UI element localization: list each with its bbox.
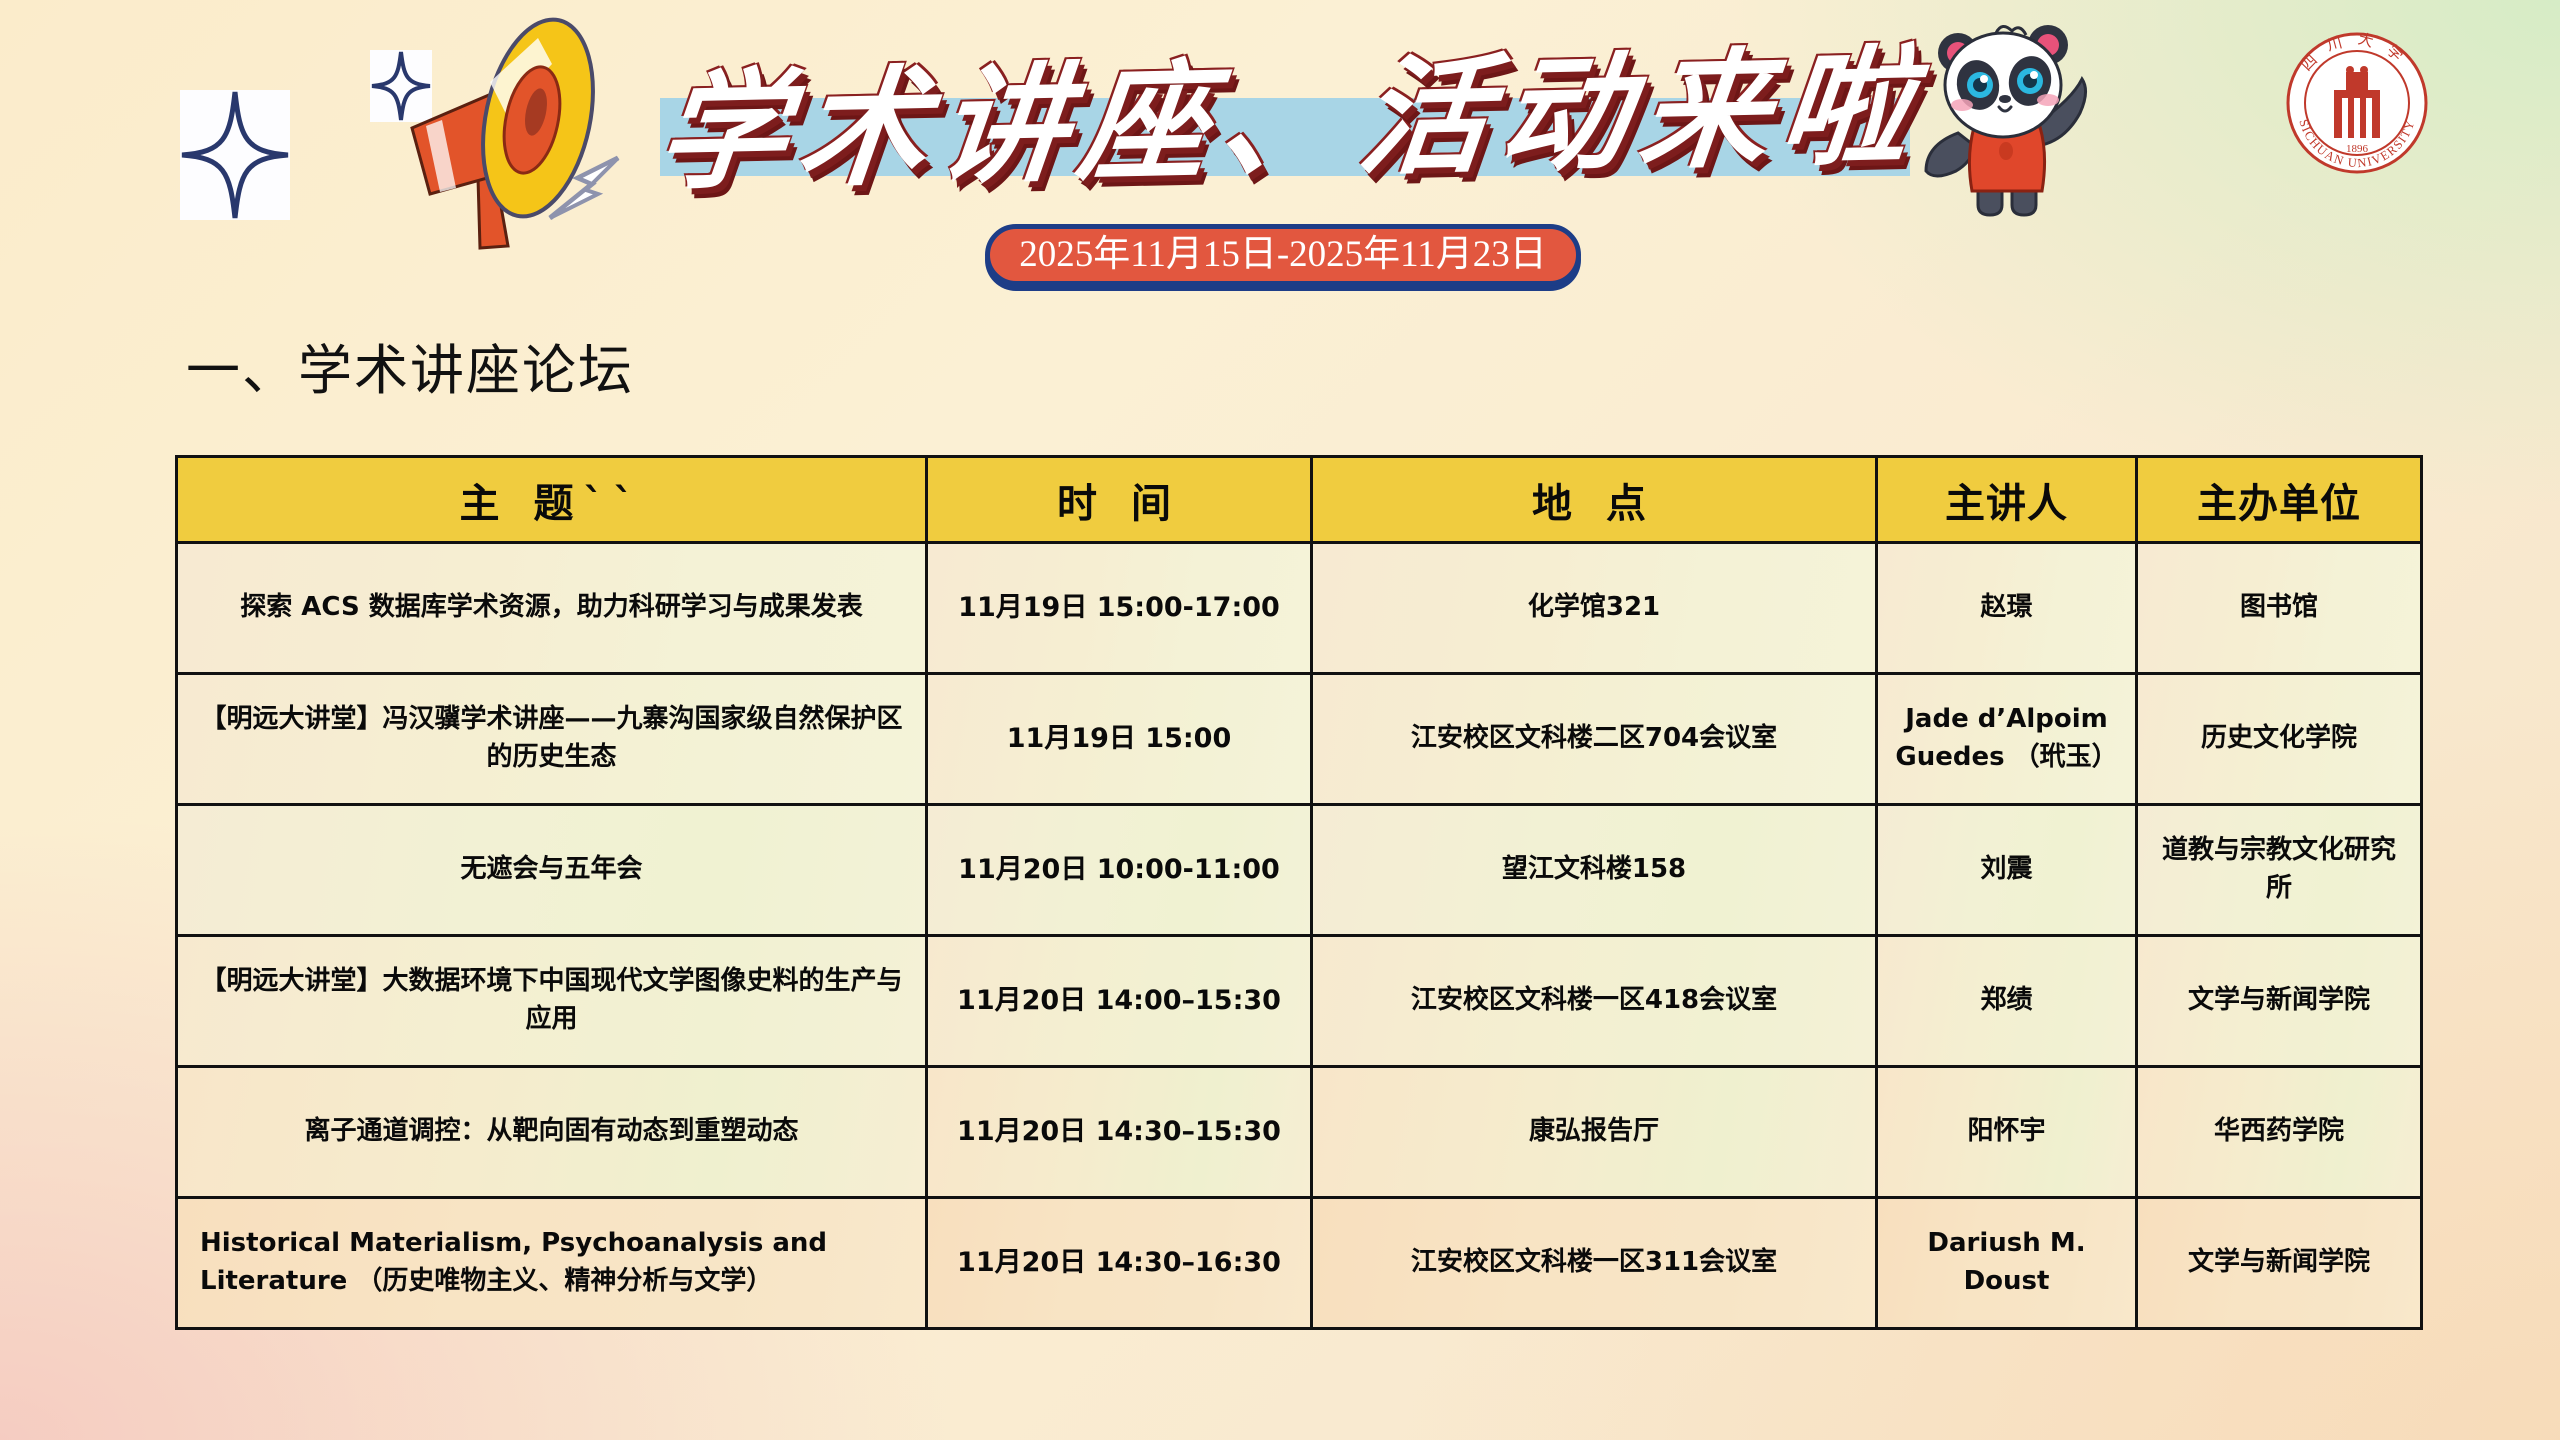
table-header-row: 主 题`` 时 间 地 点 主讲人 主办单位 — [177, 457, 2422, 543]
sparkle-star-large-icon — [180, 90, 290, 220]
date-range-badge: 2025年11月15日-2025年11月23日 — [985, 224, 1581, 286]
cell-place: 康弘报告厅 — [1312, 1067, 1877, 1198]
table-row: 【明远大讲堂】大数据环境下中国现代文学图像史料的生产与应用 11月20日 14:… — [177, 936, 2422, 1067]
cell-topic: 无遮会与五年会 — [177, 805, 927, 936]
cell-topic: 探索 ACS 数据库学术资源，助力科研学习与成果发表 — [177, 543, 927, 674]
cell-speaker: 郑绩 — [1877, 936, 2137, 1067]
cell-host: 道教与宗教文化研究所 — [2137, 805, 2422, 936]
column-header-topic: 主 题`` — [177, 457, 927, 543]
cell-place: 江安校区文科楼一区418会议室 — [1312, 936, 1877, 1067]
column-header-place: 地 点 — [1312, 457, 1877, 543]
page-title: 学术讲座、活动来啦 — [648, 7, 1931, 233]
lecture-schedule-table: 主 题`` 时 间 地 点 主讲人 主办单位 探索 ACS 数据库学术资源，助力… — [175, 455, 2423, 1330]
cell-speaker: Jade d’Alpoim Guedes （玳玉） — [1877, 674, 2137, 805]
cell-time: 11月20日 14:30–15:30 — [927, 1067, 1312, 1198]
table-row: 离子通道调控：从靶向固有动态到重塑动态 11月20日 14:30–15:30 康… — [177, 1067, 2422, 1198]
panda-mascot-icon — [1900, 5, 2100, 225]
table-row: 无遮会与五年会 11月20日 10:00-11:00 望江文科楼158 刘震 道… — [177, 805, 2422, 936]
cell-time: 11月20日 14:00–15:30 — [927, 936, 1312, 1067]
cell-speaker: 阳怀宇 — [1877, 1067, 2137, 1198]
cell-host: 华西药学院 — [2137, 1067, 2422, 1198]
cell-speaker: 刘震 — [1877, 805, 2137, 936]
column-header-time: 时 间 — [927, 457, 1312, 543]
sichuan-university-logo: 1896 SICHUAN UNIVERSITY 四川大学 — [2282, 28, 2432, 183]
cell-time: 11月19日 15:00-17:00 — [927, 543, 1312, 674]
cell-topic: 【明远大讲堂】大数据环境下中国现代文学图像史料的生产与应用 — [177, 936, 927, 1067]
megaphone-icon — [300, 8, 640, 263]
table-row: Historical Materialism, Psychoanalysis a… — [177, 1198, 2422, 1329]
cell-host: 图书馆 — [2137, 543, 2422, 674]
section-heading: 一、学术讲座论坛 — [186, 326, 634, 405]
cell-speaker: Dariush M. Doust — [1877, 1198, 2137, 1329]
cell-host: 历史文化学院 — [2137, 674, 2422, 805]
cell-host: 文学与新闻学院 — [2137, 1198, 2422, 1329]
column-header-speaker: 主讲人 — [1877, 457, 2137, 543]
logo-year: 1896 — [2346, 143, 2369, 155]
cell-time: 11月20日 14:30–16:30 — [927, 1198, 1312, 1329]
cell-topic: 离子通道调控：从靶向固有动态到重塑动态 — [177, 1067, 927, 1198]
cell-time: 11月19日 15:00 — [927, 674, 1312, 805]
cell-place: 江安校区文科楼二区704会议室 — [1312, 674, 1877, 805]
cell-speaker: 赵璟 — [1877, 543, 2137, 674]
cell-place: 化学馆321 — [1312, 543, 1877, 674]
cell-place: 望江文科楼158 — [1312, 805, 1877, 936]
cell-place: 江安校区文科楼一区311会议室 — [1312, 1198, 1877, 1329]
column-header-host: 主办单位 — [2137, 457, 2422, 543]
cell-time: 11月20日 10:00-11:00 — [927, 805, 1312, 936]
table-row: 探索 ACS 数据库学术资源，助力科研学习与成果发表 11月19日 15:00-… — [177, 543, 2422, 674]
table-row: 【明远大讲堂】冯汉骥学术讲座——九寨沟国家级自然保护区的历史生态 11月19日 … — [177, 674, 2422, 805]
cell-host: 文学与新闻学院 — [2137, 936, 2422, 1067]
cell-topic: 【明远大讲堂】冯汉骥学术讲座——九寨沟国家级自然保护区的历史生态 — [177, 674, 927, 805]
page-banner: 学术讲座、活动来啦 — [0, 0, 2560, 320]
cell-topic: Historical Materialism, Psychoanalysis a… — [177, 1198, 927, 1329]
